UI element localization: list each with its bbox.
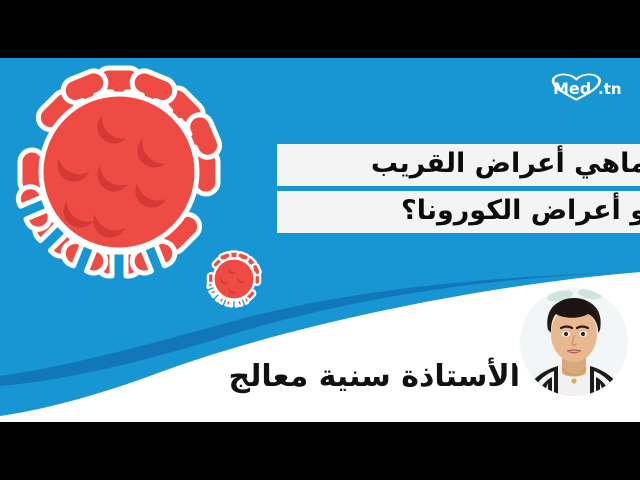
- headline-line-1: ماهي أعراض القريب: [277, 144, 640, 186]
- headline-line-2: و أعراض الكورونا؟: [277, 191, 640, 233]
- logo-suffix-text: .tn: [598, 80, 622, 98]
- speaker-name: الأستاذة سنية معالج: [120, 358, 520, 396]
- brand-logo[interactable]: Med .tn: [536, 72, 622, 106]
- video-frame: Med .tn ماهي أعراض القريب و أعراض الكورو…: [0, 0, 640, 480]
- logo-main-text: Med: [553, 79, 591, 98]
- coronavirus-icon-small: [205, 250, 263, 308]
- thumbnail-stage: Med .tn ماهي أعراض القريب و أعراض الكورو…: [0, 58, 640, 422]
- coronavirus-icon: [14, 62, 224, 282]
- avatar: [512, 280, 636, 404]
- headline: ماهي أعراض القريب و أعراض الكورونا؟: [277, 144, 640, 233]
- letterbox-top: [0, 0, 640, 58]
- letterbox-bottom: [0, 422, 640, 480]
